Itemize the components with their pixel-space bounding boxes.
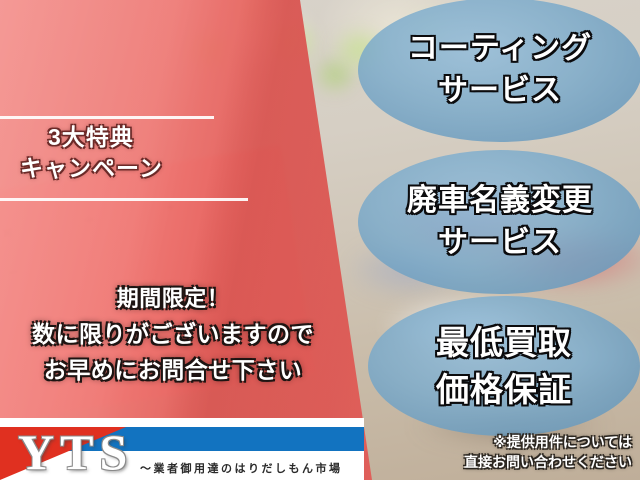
company-logo-banner[interactable]: YTS 〜業者御用達のはりだしもん市場	[0, 418, 364, 480]
limited-notice-line2: 数に限りがございますので	[0, 316, 346, 352]
divider-line-bottom	[0, 198, 248, 201]
benefit-oval-price-guarantee: 最低買取 価格保証	[368, 296, 640, 436]
benefit-oval-price-guarantee-line1: 最低買取	[436, 319, 572, 366]
limited-time-notice: 期間限定！ 数に限りがございますので お早めにお問合せ下さい	[0, 282, 346, 388]
campaign-heading: 3大特典 キャンペーン	[0, 122, 300, 184]
divider-line-top	[0, 116, 214, 119]
benefit-oval-scrap-transfer-line1: 廃車名義変更	[407, 180, 593, 222]
benefit-oval-coating-line2: サービス	[438, 70, 562, 112]
benefit-oval-price-guarantee-line2: 価格保証	[436, 366, 572, 413]
benefit-oval-scrap-transfer: 廃車名義変更 サービス	[358, 150, 640, 294]
footnote-line1: ※提供用件については	[464, 432, 632, 452]
logo-tagline: 〜業者御用達のはりだしもん市場	[140, 460, 360, 476]
benefit-oval-coating-line1: コーティング	[408, 28, 592, 70]
benefit-oval-scrap-transfer-line2: サービス	[438, 222, 562, 264]
campaign-heading-line1: 3大特典	[48, 122, 300, 152]
advertisement-banner: × ÷ + − 3大特典 キャンペーン 期間限定！ 数に限りがございますので お…	[0, 0, 640, 480]
campaign-heading-line2: キャンペーン	[20, 152, 300, 184]
limited-notice-line1: 期間限定！	[0, 282, 346, 316]
limited-notice-line3: お早めにお問合せ下さい	[0, 352, 346, 388]
logo-wordmark: YTS	[18, 426, 133, 478]
footnote: ※提供用件については 直接お問い合わせください	[464, 432, 632, 472]
benefit-oval-coating: コーティング サービス	[358, 0, 640, 142]
footnote-line2: 直接お問い合わせください	[464, 452, 632, 472]
